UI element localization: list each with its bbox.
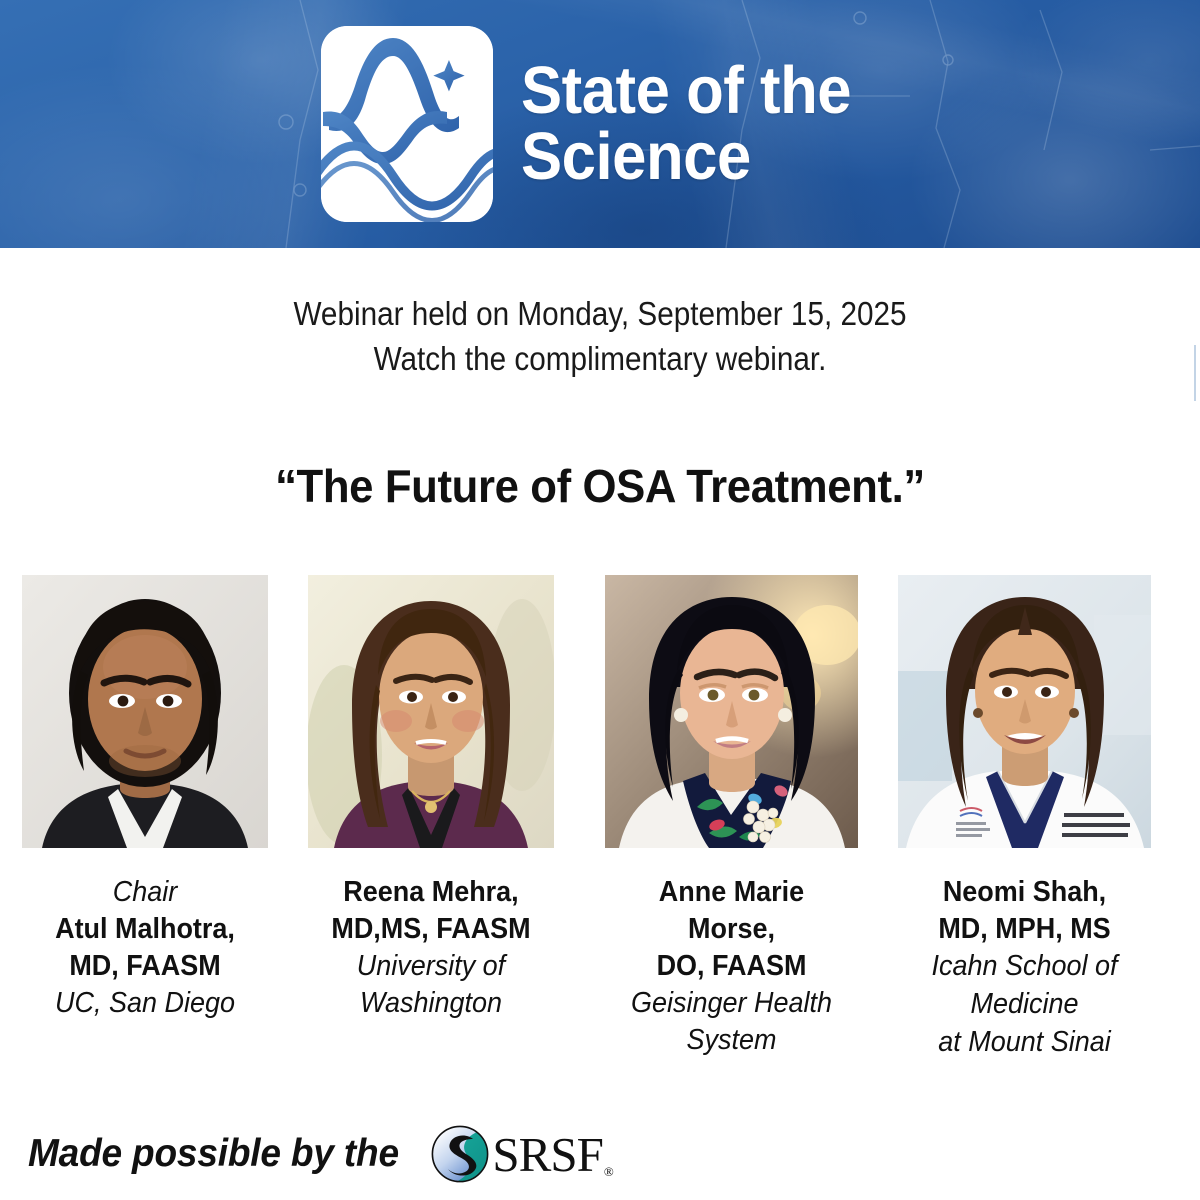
speaker-affiliation: Geisinger Health System — [614, 985, 849, 1059]
banner-title-line-1: State of the — [521, 58, 851, 124]
speaker-name: Anne Marie Morse, — [614, 874, 849, 948]
speaker-affiliation: UC, San Diego — [31, 985, 260, 1022]
speaker-name: Neomi Shah, — [907, 874, 1142, 911]
speaker-role: Chair — [31, 874, 260, 911]
state-of-the-science-logo-icon — [321, 26, 493, 222]
banner-title-line-2: Science — [521, 124, 851, 190]
speaker-credentials: MD, FAASM — [31, 948, 260, 985]
speaker-card: Chair Atul Malhotra, MD, FAASM UC, San D… — [22, 575, 268, 1022]
speaker-credentials: DO, FAASM — [614, 948, 849, 985]
right-edge-rule — [1194, 345, 1196, 401]
speaker-affiliation-line-2: at Mount Sinai — [907, 1024, 1142, 1062]
speaker-caption: Chair Atul Malhotra, MD, FAASM UC, San D… — [31, 874, 260, 1022]
speaker-card: Neomi Shah, MD, MPH, MS Icahn School of … — [898, 575, 1151, 1061]
srsf-registered-mark: ® — [604, 1164, 614, 1180]
speaker-photo — [605, 575, 858, 848]
banner-title: State of the Science — [521, 58, 851, 189]
speaker-affiliation: University of Washington — [317, 948, 546, 1022]
speaker-caption: Neomi Shah, MD, MPH, MS Icahn School of … — [907, 874, 1142, 1061]
webinar-date: Webinar held on Monday, September 15, 20… — [60, 292, 1140, 337]
srsf-circle-s-logo-icon — [430, 1124, 490, 1184]
speaker-affiliation: Icahn School of Medicine at Mount Sinai — [907, 948, 1142, 1061]
webinar-watch-note: Watch the complimentary webinar. — [60, 337, 1140, 382]
speaker-caption: Reena Mehra, MD,MS, FAASM University of … — [317, 874, 546, 1022]
speaker-name: Reena Mehra, — [317, 874, 546, 911]
srsf-logo: SRSF ® — [430, 1124, 613, 1184]
speaker-photo — [898, 575, 1151, 848]
speaker-affiliation-line-1: Icahn School of Medicine — [907, 948, 1142, 1023]
speaker-photo — [308, 575, 554, 848]
webinar-meta: Webinar held on Monday, September 15, 20… — [60, 292, 1140, 381]
footer-credit-text: Made possible by the — [28, 1132, 399, 1176]
srsf-wordmark: SRSF — [492, 1130, 602, 1179]
page-title: “The Future of OSA Treatment.” — [30, 459, 1170, 513]
speaker-credentials: MD, MPH, MS — [907, 911, 1142, 948]
speaker-card: Anne Marie Morse, DO, FAASM Geisinger He… — [605, 575, 858, 1060]
speaker-card: Reena Mehra, MD,MS, FAASM University of … — [308, 575, 554, 1022]
speaker-caption: Anne Marie Morse, DO, FAASM Geisinger He… — [614, 874, 849, 1060]
header-banner: State of the Science — [0, 0, 1200, 248]
webinar-promo-page: State of the Science Webinar held on Mon… — [0, 0, 1200, 1200]
footer-credit: Made possible by the — [28, 1124, 614, 1184]
speakers-row: Chair Atul Malhotra, MD, FAASM UC, San D… — [0, 575, 1200, 1075]
speaker-photo — [22, 575, 268, 848]
speaker-name: Atul Malhotra, — [31, 911, 260, 948]
speaker-credentials: MD,MS, FAASM — [317, 911, 546, 948]
